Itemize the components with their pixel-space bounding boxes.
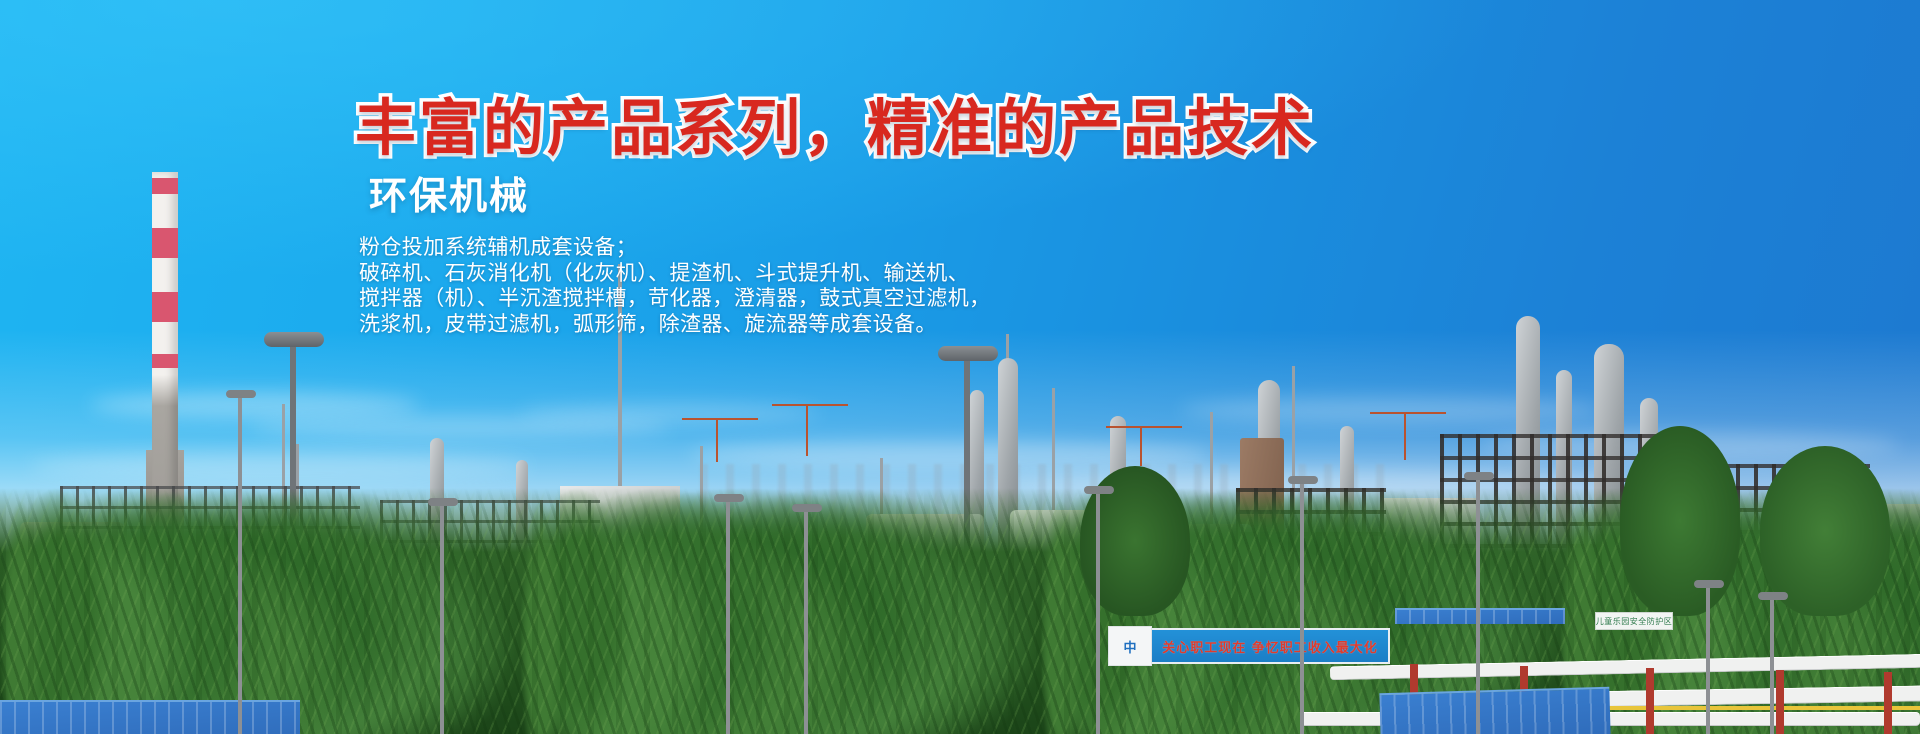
- rack-column: [1646, 668, 1654, 734]
- safety-sign-text: 儿童乐园安全防护区: [1596, 616, 1673, 627]
- crane: [1404, 412, 1406, 460]
- street-lamp: [1096, 492, 1100, 734]
- street-lamp: [1706, 586, 1710, 734]
- hero-copy: 丰富的产品系列，精准的产品技术 环保机械 粉仓投加系统辅机成套设备； 破碎机、石…: [355, 96, 1555, 337]
- blue-roof: [0, 700, 300, 734]
- crane: [716, 418, 718, 462]
- description-line: 破碎机、石灰消化机（化灰机）、提渣机、斗式提升机、输送机、: [359, 261, 1555, 287]
- street-lamp: [1300, 482, 1304, 734]
- crane: [806, 404, 808, 456]
- company-logo-plate: 中: [1108, 626, 1152, 666]
- hero-subheading: 环保机械: [369, 174, 1555, 220]
- street-lamp: [1476, 478, 1480, 734]
- street-lamp: [440, 504, 444, 734]
- blue-canopy: [1395, 608, 1565, 624]
- crane: [1140, 426, 1142, 466]
- company-logo-mark: 中: [1123, 637, 1136, 656]
- street-lamp: [238, 396, 242, 734]
- hero-headline: 丰富的产品系列，精准的产品技术: [355, 96, 1555, 162]
- blue-roof: [1379, 687, 1610, 734]
- description-line: 洗浆机，皮带过滤机，弧形筛，除渣器、旋流器等成套设备。: [359, 312, 1555, 338]
- street-lamp: [726, 500, 730, 734]
- tree: [1620, 426, 1740, 616]
- street-lamp: [1770, 598, 1774, 734]
- product-description-list: 粉仓投加系统辅机成套设备； 破碎机、石灰消化机（化灰机）、提渣机、斗式提升机、输…: [359, 235, 1555, 337]
- safety-sign: 儿童乐园安全防护区: [1595, 612, 1673, 630]
- street-lamp: [804, 510, 808, 734]
- site-banner-text: 关心职工现在 争忆职工收入最大化: [1162, 637, 1378, 656]
- description-line: 搅拌器（机）、半沉渣搅拌槽，苛化器，澄清器，鼓式真空过滤机，: [359, 286, 1555, 312]
- description-line: 粉仓投加系统辅机成套设备；: [359, 235, 1555, 261]
- hero-banner: 关心职工现在 争忆职工收入最大化 中 儿童乐园安全防护区 丰富的产品系列，精准的…: [0, 0, 1920, 734]
- rack-column: [1884, 672, 1892, 734]
- site-banner: 关心职工现在 争忆职工收入最大化: [1150, 628, 1390, 664]
- rack-column: [1776, 670, 1784, 734]
- tree: [1760, 446, 1890, 616]
